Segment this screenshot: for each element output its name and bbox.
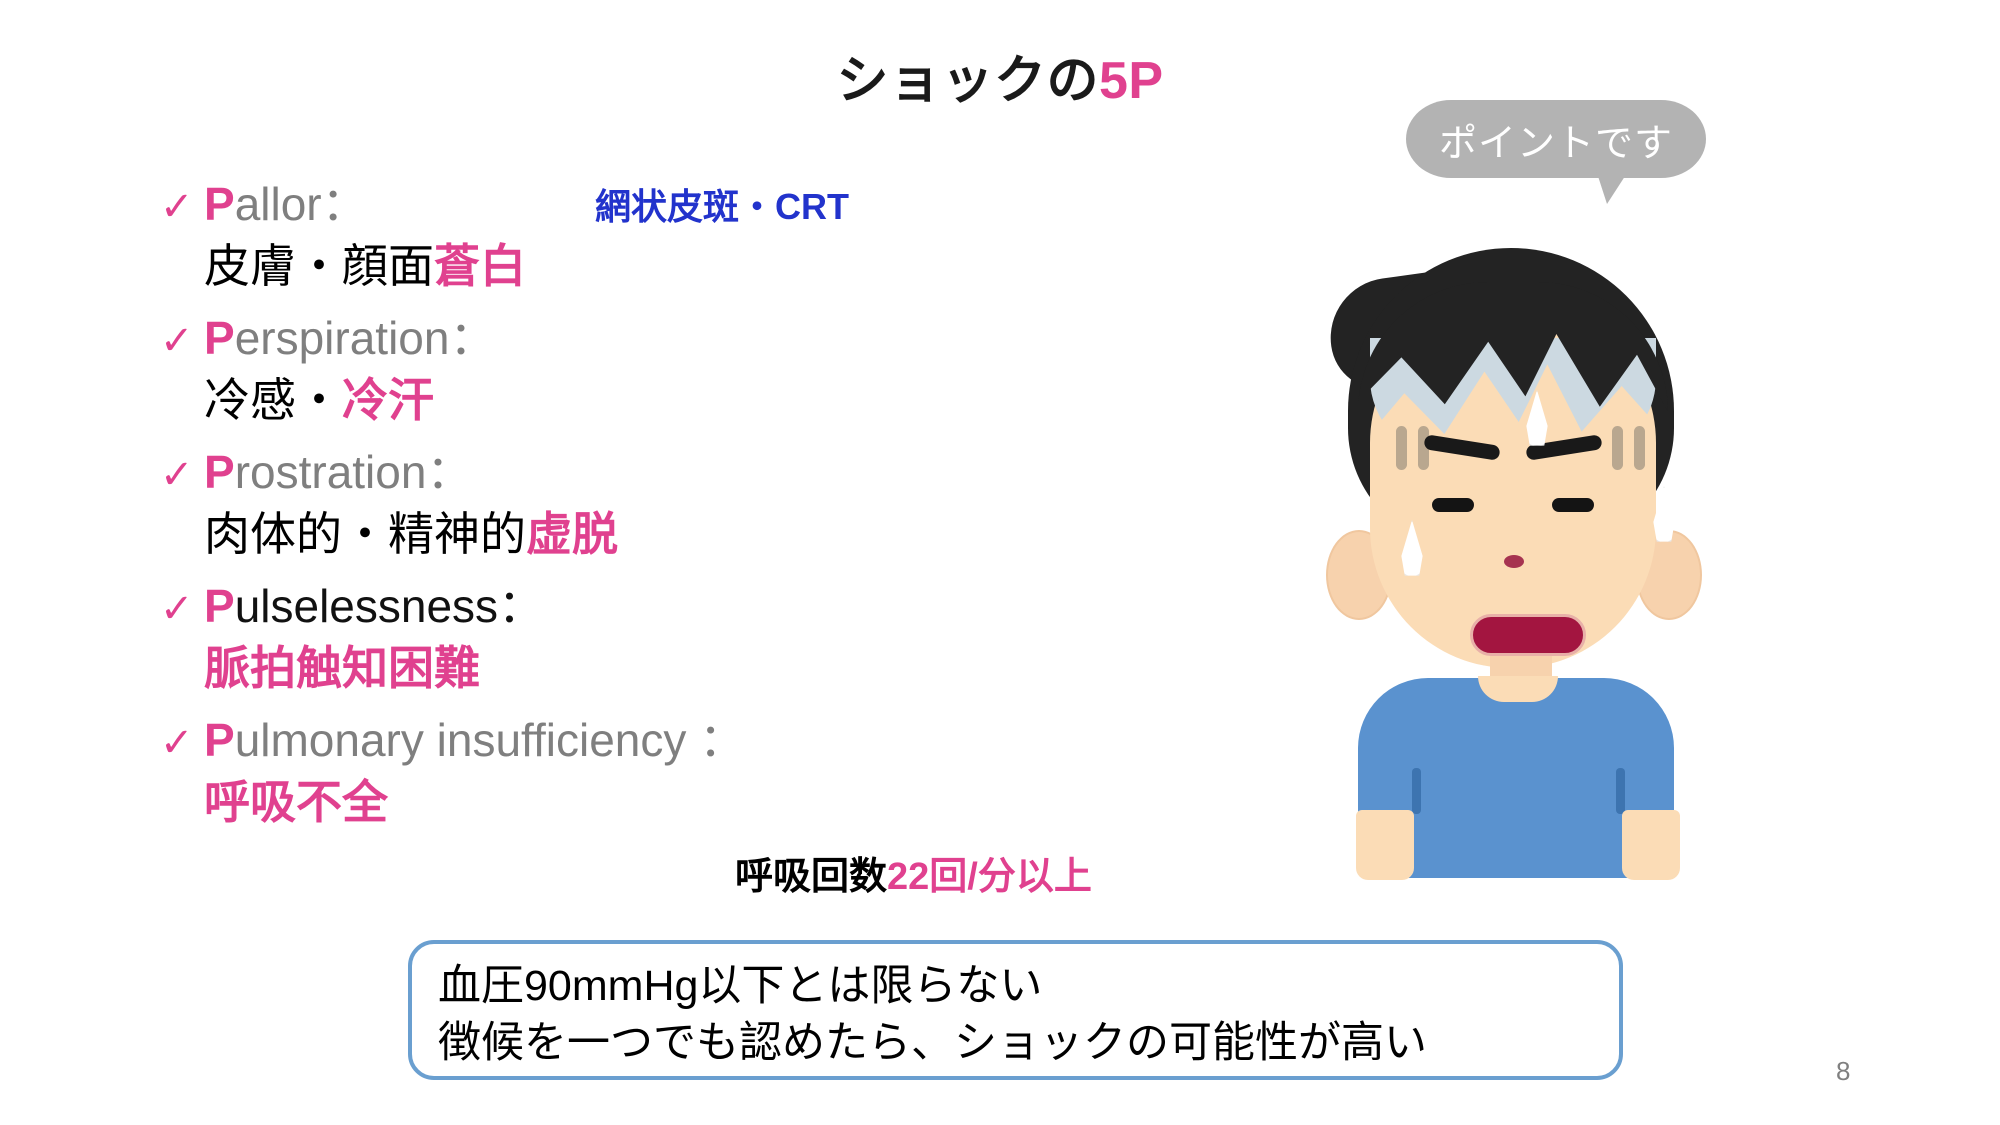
list-item: ✓ Pulmonary insufficiency ： 呼吸不全 bbox=[160, 704, 1160, 832]
bullet-term: Pallor： bbox=[204, 168, 368, 234]
bullet-rest: rostration bbox=[235, 446, 427, 498]
crt-annotation: 網状皮斑・CRT bbox=[595, 178, 849, 230]
bullet-term-line: ✓ Prostration： bbox=[160, 436, 1160, 498]
bullet-term-line: ✓ Perspiration： bbox=[160, 302, 1160, 364]
bullet-subtitle: 皮膚・顔面蒼白 bbox=[160, 230, 1160, 296]
eye-left bbox=[1432, 498, 1474, 512]
speech-bubble-text: ポイントです bbox=[1439, 112, 1673, 167]
bullet-sub-highlight: 脈拍触知困難 bbox=[204, 632, 480, 698]
sleeve-fold-right bbox=[1616, 768, 1625, 814]
bullet-term: Pulselessness： bbox=[204, 570, 544, 636]
bullet-subtitle: 肉体的・精神的虚脱 bbox=[160, 498, 1160, 564]
check-icon: ✓ bbox=[160, 187, 204, 227]
bullet-rest: allor bbox=[235, 178, 322, 230]
eye-right bbox=[1552, 498, 1594, 512]
bullet-rest: ulmonary insufficiency bbox=[235, 714, 699, 766]
check-icon: ✓ bbox=[160, 589, 204, 629]
arm-right bbox=[1622, 810, 1680, 880]
bullet-subtitle: 冷感・冷汗 bbox=[160, 364, 1160, 430]
check-icon: ✓ bbox=[160, 455, 204, 495]
title-accent: 5P bbox=[1099, 52, 1164, 110]
forehead-line-1 bbox=[1396, 426, 1407, 470]
forehead-line-3 bbox=[1612, 426, 1623, 470]
bullet-colon: ： bbox=[426, 446, 472, 498]
bullet-sub-plain: 肉体的・精神的 bbox=[204, 498, 526, 564]
speech-bubble-tail bbox=[1596, 170, 1629, 204]
bullet-initial: P bbox=[204, 714, 235, 766]
bullet-colon: ： bbox=[322, 178, 368, 230]
pale-sweating-boy-illustration bbox=[1320, 248, 1740, 878]
callout-line-2: 徴候を一つでも認めたら、ショックの可能性が高い bbox=[438, 1015, 1593, 1072]
title-prefix: ショックの bbox=[836, 52, 1099, 110]
callout-box: 血圧90mmHg以下とは限らない 徴候を一つでも認めたら、ショックの可能性が高い bbox=[408, 940, 1623, 1080]
arm-left bbox=[1356, 810, 1414, 880]
bullet-initial: P bbox=[204, 178, 235, 230]
slide-canvas: ショックの5P ポイントです ✓ Pallor： 皮膚・顔面蒼白 ✓ Persp… bbox=[0, 0, 2000, 1125]
bullet-rest: erspiration bbox=[235, 312, 450, 364]
nose bbox=[1504, 555, 1524, 568]
bullet-sub-highlight: 呼吸不全 bbox=[204, 766, 388, 832]
speech-bubble: ポイントです bbox=[1406, 100, 1706, 178]
bullet-subtitle: 脈拍触知困難 bbox=[160, 632, 1160, 698]
respiratory-rate-annotation: 呼吸回数22回/分以上 bbox=[735, 845, 1092, 900]
bullet-initial: P bbox=[204, 312, 235, 364]
bullet-term-line: ✓ Pulmonary insufficiency ： bbox=[160, 704, 1160, 766]
sleeve-fold-left bbox=[1412, 768, 1421, 814]
callout-line-1: 血圧90mmHg以下とは限らない bbox=[438, 958, 1593, 1015]
bullet-sub-plain: 冷感・ bbox=[204, 364, 342, 430]
list-item: ✓ Perspiration： 冷感・冷汗 bbox=[160, 302, 1160, 430]
bullet-sub-highlight: 蒼白 bbox=[434, 230, 526, 296]
bullet-term-line: ✓ Pulselessness： bbox=[160, 570, 1160, 632]
bullet-initial: P bbox=[204, 580, 235, 632]
rr-plain: 呼吸回数 bbox=[735, 856, 887, 898]
bullet-term: Pulmonary insufficiency ： bbox=[204, 704, 745, 770]
check-icon: ✓ bbox=[160, 321, 204, 361]
page-title: ショックの5P bbox=[0, 38, 2000, 113]
forehead-line-4 bbox=[1634, 426, 1645, 470]
list-item: ✓ Pulselessness： 脈拍触知困難 bbox=[160, 570, 1160, 698]
bullet-sub-highlight: 冷汗 bbox=[342, 364, 434, 430]
bullet-colon: ： bbox=[449, 312, 495, 364]
bullet-colon: ： bbox=[699, 714, 745, 766]
bullet-subtitle: 呼吸不全 bbox=[160, 766, 1160, 832]
bullet-rest: ulselessness bbox=[235, 580, 498, 632]
bullet-term: Perspiration： bbox=[204, 302, 495, 368]
five-p-list: ✓ Pallor： 皮膚・顔面蒼白 ✓ Perspiration： 冷感・冷汗 … bbox=[160, 168, 1160, 838]
bullet-sub-plain: 皮膚・顔面 bbox=[204, 230, 434, 296]
bullet-initial: P bbox=[204, 446, 235, 498]
check-icon: ✓ bbox=[160, 723, 204, 763]
mouth bbox=[1470, 614, 1586, 656]
page-number: 8 bbox=[1836, 1056, 1850, 1087]
list-item: ✓ Prostration： 肉体的・精神的虚脱 bbox=[160, 436, 1160, 564]
bullet-colon: ： bbox=[498, 580, 544, 632]
bullet-term: Prostration： bbox=[204, 436, 472, 502]
rr-highlight: 22回/分以上 bbox=[887, 856, 1092, 898]
bullet-sub-highlight: 虚脱 bbox=[526, 498, 618, 564]
